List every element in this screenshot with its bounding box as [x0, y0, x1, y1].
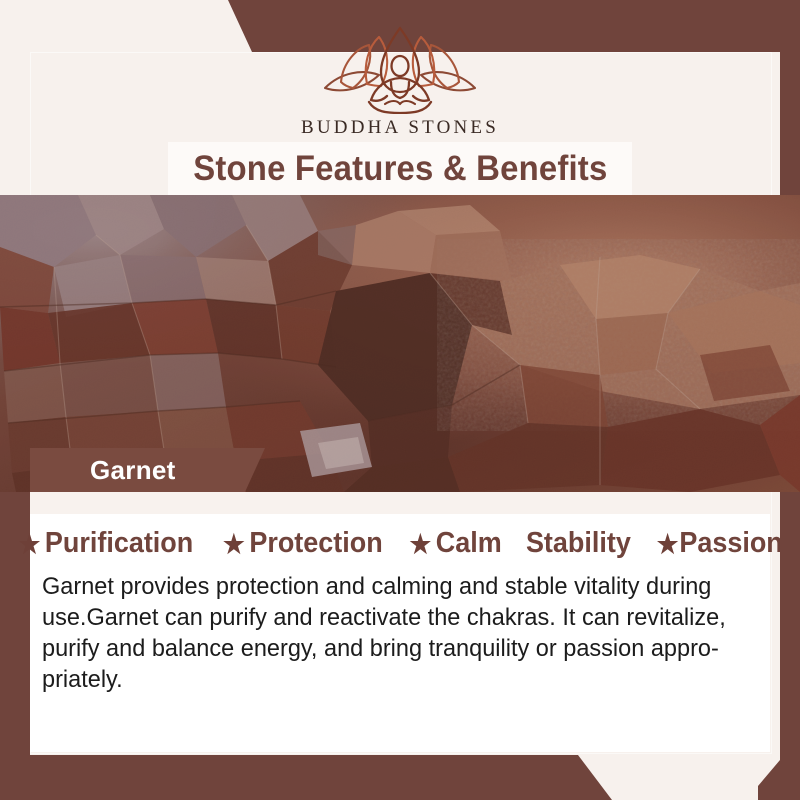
- frame-bottom-bar: [0, 755, 800, 800]
- star-icon: ★: [657, 531, 679, 557]
- feature-list: ★Purification ★Protection ★Calm Stabilit…: [30, 527, 770, 560]
- star-icon: ★: [19, 531, 41, 557]
- feature-item-purification: ★Purification: [19, 527, 194, 560]
- feature-item-stability: Stability: [526, 527, 631, 560]
- brand-name: BUDDHA STONES: [301, 117, 499, 139]
- page-title: Stone Features & Benefits: [193, 149, 607, 189]
- brand-block: BUDDHA STONES: [0, 26, 800, 142]
- content-panel: ★Purification ★Protection ★Calm Stabilit…: [30, 514, 770, 752]
- title-band: Stone Features & Benefits: [168, 142, 632, 195]
- feature-label: Passion: [679, 527, 782, 560]
- star-icon: ★: [409, 531, 431, 557]
- lotus-meditation-icon: [307, 26, 493, 114]
- feature-label: Purification: [45, 527, 193, 560]
- poster-root: BUDDHA STONES Stone Features & Benefits: [0, 0, 800, 800]
- feature-item-protection: ★Protection: [223, 527, 383, 560]
- garnet-photo-art: [0, 195, 800, 492]
- stone-name-tag: Garnet: [30, 448, 265, 492]
- feature-item-passion: ★Passion: [657, 527, 783, 560]
- cream-divider-strip: [30, 492, 770, 514]
- feature-label: Stability: [526, 527, 631, 560]
- feature-label: Protection: [250, 527, 383, 560]
- description-block: Garnet provides protection and calming a…: [42, 571, 731, 695]
- feature-label: Calm: [436, 527, 502, 560]
- stone-name-label: Garnet: [90, 455, 176, 486]
- description-text: Garnet provides protection and calming a…: [42, 571, 731, 695]
- garnet-photo: [0, 195, 800, 492]
- feature-item-calm: ★Calm: [409, 527, 501, 560]
- star-icon: ★: [223, 531, 245, 557]
